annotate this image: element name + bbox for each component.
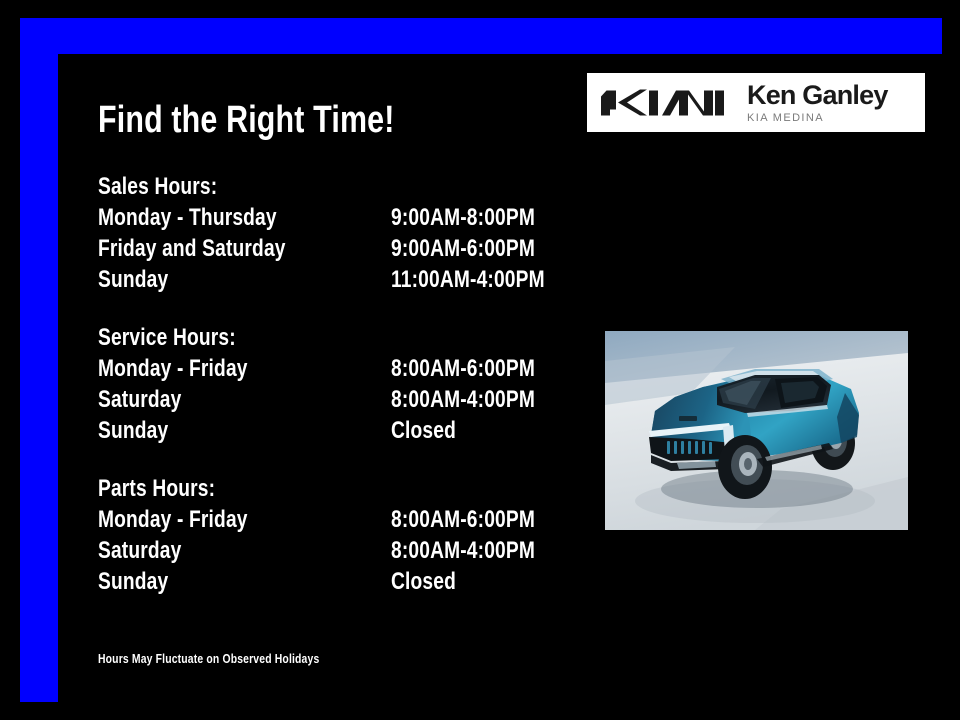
hours-row: Monday - Thursday9:00AM-8:00PM bbox=[98, 202, 618, 233]
slide-content-area: Find the Right Time! Sales Hours:Monday … bbox=[58, 54, 944, 702]
hours-group-heading: Parts Hours: bbox=[98, 474, 618, 504]
hours-group: Parts Hours:Monday - Friday8:00AM-6:00PM… bbox=[98, 474, 618, 597]
hours-row-time: Closed bbox=[391, 415, 472, 446]
hours-row-time: 8:00AM-4:00PM bbox=[391, 535, 571, 566]
hours-row-time: 8:00AM-4:00PM bbox=[391, 384, 571, 415]
dealer-name-block: Ken Ganley KIA MEDINA bbox=[747, 81, 911, 125]
hours-row-day-text: Sunday bbox=[98, 264, 168, 295]
hours-row-day-text: Sunday bbox=[98, 566, 168, 597]
hours-row-time: 8:00AM-6:00PM bbox=[391, 504, 571, 535]
hours-list: Sales Hours:Monday - Thursday9:00AM-8:00… bbox=[98, 172, 618, 597]
hours-row-day: Monday - Friday bbox=[98, 353, 285, 384]
hours-row-time-text: 9:00AM-8:00PM bbox=[391, 202, 535, 233]
hours-row-day: Friday and Saturday bbox=[98, 233, 333, 264]
hours-row-day: Sunday bbox=[98, 264, 186, 295]
hours-row: Saturday8:00AM-4:00PM bbox=[98, 384, 618, 415]
hours-row-time-text: 8:00AM-6:00PM bbox=[391, 353, 535, 384]
hours-group-heading: Service Hours: bbox=[98, 323, 618, 353]
hours-row: Monday - Friday8:00AM-6:00PM bbox=[98, 504, 618, 535]
hours-row-time: 9:00AM-8:00PM bbox=[391, 202, 571, 233]
hours-group-heading-text: Parts Hours: bbox=[98, 474, 215, 504]
hours-row-day-text: Monday - Friday bbox=[98, 353, 248, 384]
hours-row-time-text: 8:00AM-4:00PM bbox=[391, 384, 535, 415]
hours-row-time-text: Closed bbox=[391, 415, 456, 446]
hours-row: SundayClosed bbox=[98, 566, 618, 597]
hours-row-time: 9:00AM-6:00PM bbox=[391, 233, 571, 264]
vehicle-photo bbox=[605, 331, 908, 530]
hours-row-time-text: 9:00AM-6:00PM bbox=[391, 233, 535, 264]
hours-row-day-text: Saturday bbox=[98, 535, 181, 566]
hours-row-day: Monday - Thursday bbox=[98, 202, 321, 233]
hours-row-time-text: Closed bbox=[391, 566, 456, 597]
blue-border-frame: Find the Right Time! Sales Hours:Monday … bbox=[20, 18, 942, 702]
hours-group-heading: Sales Hours: bbox=[98, 172, 618, 202]
hours-row: Friday and Saturday9:00AM-6:00PM bbox=[98, 233, 618, 264]
hours-row-day-text: Saturday bbox=[98, 384, 181, 415]
hours-group: Service Hours:Monday - Friday8:00AM-6:00… bbox=[98, 323, 618, 446]
hours-row-time-text: 11:00AM-4:00PM bbox=[391, 264, 545, 295]
hours-row: SundayClosed bbox=[98, 415, 618, 446]
hours-group: Sales Hours:Monday - Thursday9:00AM-8:00… bbox=[98, 172, 618, 295]
hours-row-day: Sunday bbox=[98, 566, 186, 597]
kia-logo-icon bbox=[601, 86, 733, 120]
dealer-subtitle: KIA MEDINA bbox=[747, 111, 911, 125]
hours-row-day: Saturday bbox=[98, 384, 202, 415]
hours-row-day: Saturday bbox=[98, 535, 202, 566]
hours-row-day: Sunday bbox=[98, 415, 186, 446]
hours-row: Saturday8:00AM-4:00PM bbox=[98, 535, 618, 566]
hours-row-time: 8:00AM-6:00PM bbox=[391, 353, 571, 384]
slide-root: Find the Right Time! Sales Hours:Monday … bbox=[0, 0, 960, 720]
hours-row-day: Monday - Friday bbox=[98, 504, 285, 535]
page-title: Find the Right Time! bbox=[98, 98, 469, 142]
footer-disclaimer: Hours May Fluctuate on Observed Holidays bbox=[98, 650, 375, 668]
hours-row-day-text: Monday - Thursday bbox=[98, 202, 277, 233]
hours-row: Sunday11:00AM-4:00PM bbox=[98, 264, 618, 295]
dealer-logo-panel: Ken Ganley KIA MEDINA bbox=[587, 73, 925, 132]
hours-row-day-text: Monday - Friday bbox=[98, 504, 248, 535]
hours-group-heading-text: Sales Hours: bbox=[98, 172, 217, 202]
dealer-name: Ken Ganley bbox=[747, 81, 911, 109]
footer-disclaimer-text: Hours May Fluctuate on Observed Holidays bbox=[98, 650, 319, 668]
hours-row-time-text: 8:00AM-6:00PM bbox=[391, 504, 535, 535]
hours-group-heading-text: Service Hours: bbox=[98, 323, 236, 353]
hours-row: Monday - Friday8:00AM-6:00PM bbox=[98, 353, 618, 384]
hours-row-time: Closed bbox=[391, 566, 472, 597]
page-title-text: Find the Right Time! bbox=[98, 98, 394, 142]
hours-row-time: 11:00AM-4:00PM bbox=[391, 264, 583, 295]
hours-row-day-text: Friday and Saturday bbox=[98, 233, 286, 264]
hours-row-day-text: Sunday bbox=[98, 415, 168, 446]
hours-row-time-text: 8:00AM-4:00PM bbox=[391, 535, 535, 566]
